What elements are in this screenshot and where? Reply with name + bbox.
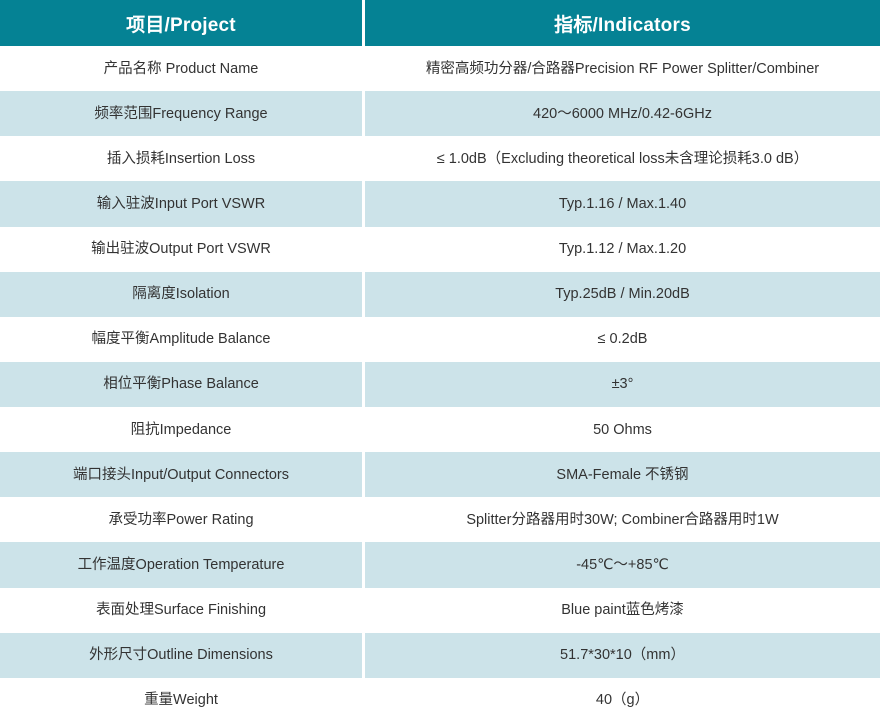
cell-indicator: Typ.1.16 / Max.1.40	[365, 181, 880, 226]
column-header-project: 项目/Project	[0, 0, 365, 46]
table-row: 端口接头Input/Output ConnectorsSMA-Female 不锈…	[0, 452, 880, 497]
table-row: 相位平衡Phase Balance±3°	[0, 362, 880, 407]
cell-indicator: 420～6000 MHz/0.42-6GHz	[365, 91, 880, 136]
cell-project: 插入损耗Insertion Loss	[0, 136, 365, 181]
cell-project: 幅度平衡Amplitude Balance	[0, 317, 365, 362]
cell-indicator: SMA-Female 不锈钢	[365, 452, 880, 497]
table-row: 工作温度Operation Temperature-45℃～+85℃	[0, 542, 880, 587]
cell-indicator: Blue paint蓝色烤漆	[365, 588, 880, 633]
cell-project: 频率范围Frequency Range	[0, 91, 365, 136]
cell-project: 阻抗Impedance	[0, 407, 365, 452]
cell-project: 承受功率Power Rating	[0, 497, 365, 542]
table-row: 幅度平衡Amplitude Balance≤ 0.2dB	[0, 317, 880, 362]
cell-project: 输出驻波Output Port VSWR	[0, 227, 365, 272]
cell-project: 输入驻波Input Port VSWR	[0, 181, 365, 226]
cell-indicator: ≤ 1.0dB（Excluding theoretical loss未含理论损耗…	[365, 136, 880, 181]
cell-project: 表面处理Surface Finishing	[0, 588, 365, 633]
cell-indicator: 50 Ohms	[365, 407, 880, 452]
table-row: 隔离度IsolationTyp.25dB / Min.20dB	[0, 272, 880, 317]
column-header-indicators: 指标/Indicators	[365, 0, 880, 46]
cell-indicator: Splitter分路器用时30W; Combiner合路器用时1W	[365, 497, 880, 542]
table-row: 输出驻波Output Port VSWRTyp.1.12 / Max.1.20	[0, 227, 880, 272]
specification-table: 项目/Project 指标/Indicators 产品名称 Product Na…	[0, 0, 880, 723]
cell-indicator: Typ.1.12 / Max.1.20	[365, 227, 880, 272]
table-row: 重量Weight40（g）	[0, 678, 880, 723]
table-row: 外形尺寸Outline Dimensions51.7*30*10（mm）	[0, 633, 880, 678]
cell-project: 端口接头Input/Output Connectors	[0, 452, 365, 497]
cell-project: 外形尺寸Outline Dimensions	[0, 633, 365, 678]
table-row: 承受功率Power RatingSplitter分路器用时30W; Combin…	[0, 497, 880, 542]
cell-project: 相位平衡Phase Balance	[0, 362, 365, 407]
cell-indicator: 精密高频功分器/合路器Precision RF Power Splitter/C…	[365, 46, 880, 91]
cell-indicator: 51.7*30*10（mm）	[365, 633, 880, 678]
cell-project: 重量Weight	[0, 678, 365, 723]
cell-indicator: 40（g）	[365, 678, 880, 723]
table-body: 产品名称 Product Name精密高频功分器/合路器Precision RF…	[0, 46, 880, 723]
header-row: 项目/Project 指标/Indicators	[0, 0, 880, 46]
cell-project: 工作温度Operation Temperature	[0, 542, 365, 587]
table-row: 频率范围Frequency Range420～6000 MHz/0.42-6GH…	[0, 91, 880, 136]
table-header: 项目/Project 指标/Indicators	[0, 0, 880, 46]
cell-indicator: ≤ 0.2dB	[365, 317, 880, 362]
cell-indicator: Typ.25dB / Min.20dB	[365, 272, 880, 317]
cell-indicator: -45℃～+85℃	[365, 542, 880, 587]
cell-project: 隔离度Isolation	[0, 272, 365, 317]
table-row: 输入驻波Input Port VSWRTyp.1.16 / Max.1.40	[0, 181, 880, 226]
cell-indicator: ±3°	[365, 362, 880, 407]
table-row: 产品名称 Product Name精密高频功分器/合路器Precision RF…	[0, 46, 880, 91]
table-row: 阻抗Impedance50 Ohms	[0, 407, 880, 452]
cell-project: 产品名称 Product Name	[0, 46, 365, 91]
table-row: 插入损耗Insertion Loss≤ 1.0dB（Excluding theo…	[0, 136, 880, 181]
table-row: 表面处理Surface FinishingBlue paint蓝色烤漆	[0, 588, 880, 633]
